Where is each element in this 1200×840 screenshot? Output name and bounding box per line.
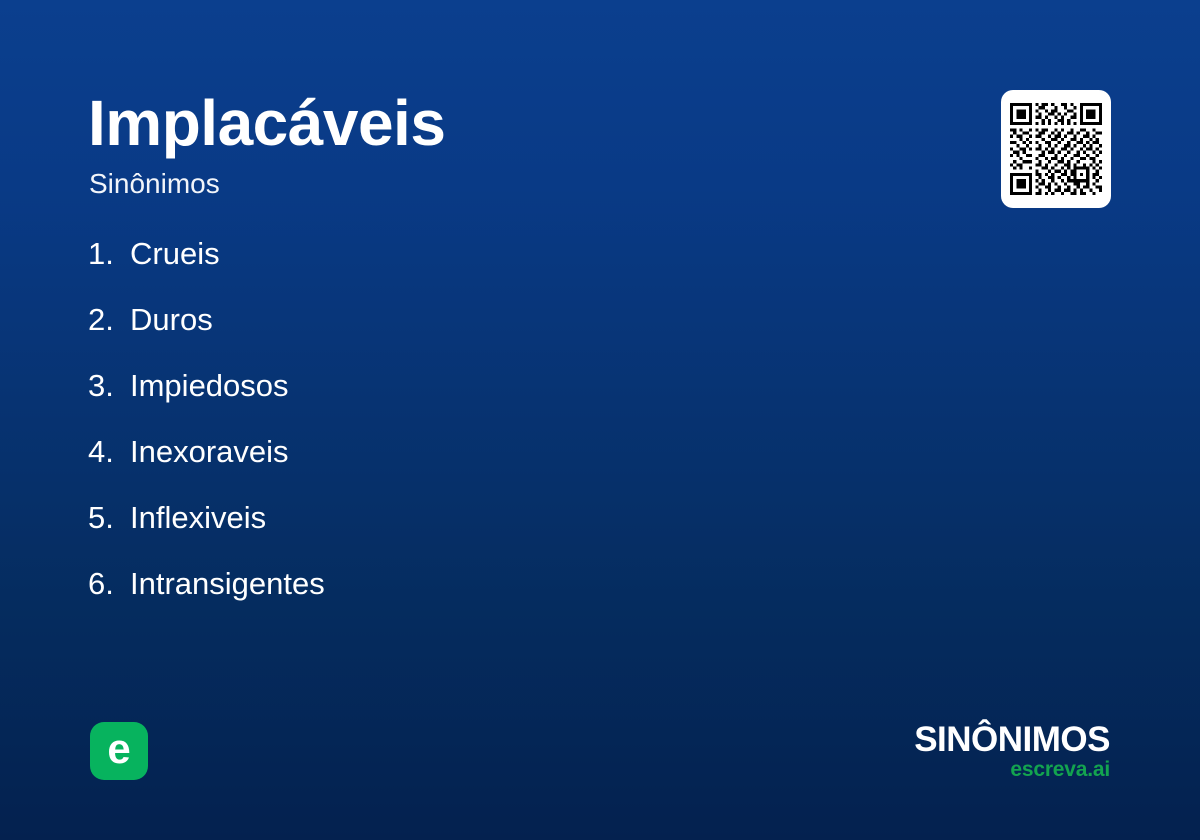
list-item: 3. Impiedosos: [88, 364, 888, 430]
escreva-e-icon[interactable]: e: [90, 722, 148, 780]
list-item-label: Impiedosos: [130, 364, 289, 408]
qr-code[interactable]: [1001, 90, 1111, 208]
list-item: 6. Intransigentes: [88, 562, 888, 628]
brand-logo-tagline: escreva.ai: [914, 759, 1110, 781]
list-item: 2. Duros: [88, 298, 888, 364]
qr-code-icon: [1010, 103, 1102, 195]
list-item: 5. Inflexiveis: [88, 496, 888, 562]
list-item-index: 2.: [88, 298, 130, 342]
list-item-label: Inflexiveis: [130, 496, 266, 540]
list-item-index: 3.: [88, 364, 130, 408]
list-item: 1. Crueis: [88, 232, 888, 298]
list-item-index: 1.: [88, 232, 130, 276]
list-item: 4. Inexoraveis: [88, 430, 888, 496]
list-item-index: 5.: [88, 496, 130, 540]
page-subtitle: Sinônimos: [89, 166, 220, 202]
list-item-label: Intransigentes: [130, 562, 325, 606]
list-item-label: Inexoraveis: [130, 430, 289, 474]
list-item-index: 4.: [88, 430, 130, 474]
escreva-e-glyph: e: [107, 728, 130, 770]
list-item-label: Crueis: [130, 232, 220, 276]
page-title: Implacáveis: [88, 87, 445, 159]
synonyms-list: 1. Crueis 2. Duros 3. Impiedosos 4. Inex…: [88, 232, 888, 628]
synonyms-card: Implacáveis Sinônimos 1. Crueis 2. Duros…: [0, 0, 1200, 840]
list-item-label: Duros: [130, 298, 213, 342]
list-item-index: 6.: [88, 562, 130, 606]
brand-logo-word: SINÔNIMOS: [914, 722, 1110, 758]
brand-logo[interactable]: SINÔNIMOS escreva.ai: [914, 722, 1110, 781]
